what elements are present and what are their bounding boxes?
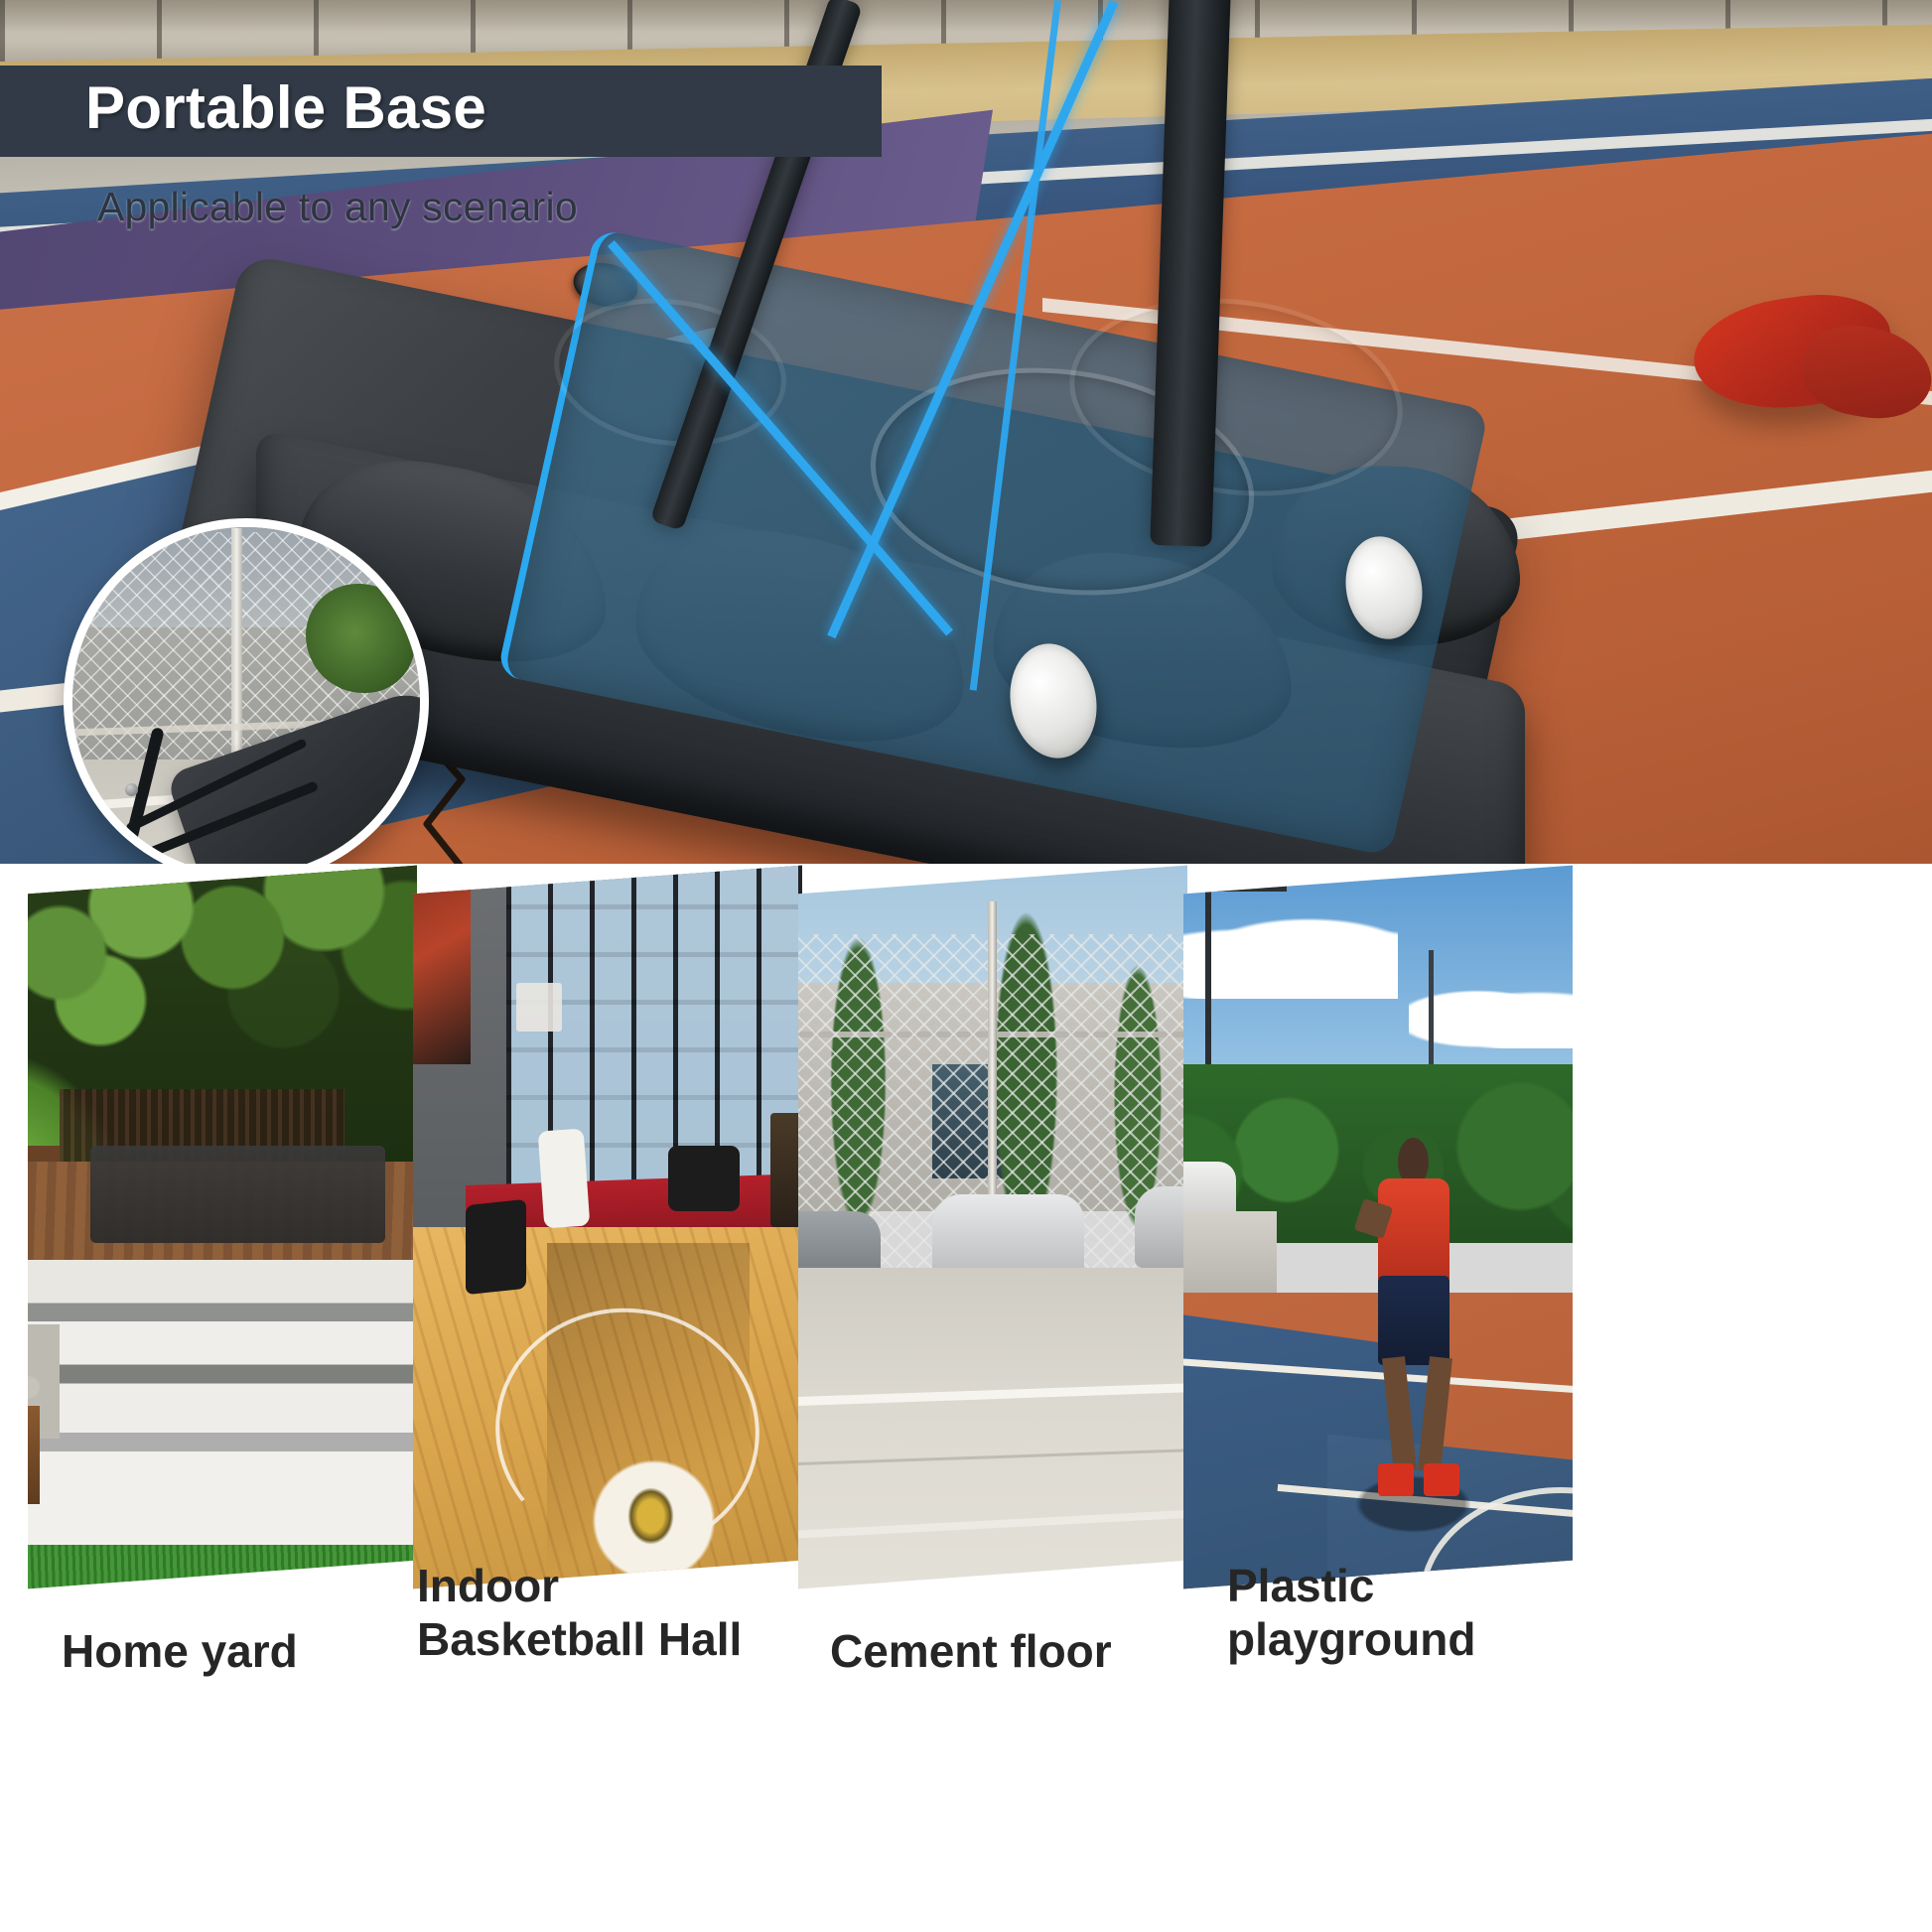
- scenario-card-home-yard[interactable]: [28, 880, 417, 1575]
- scenario-image-indoor-hall: [413, 866, 802, 1589]
- scenario-thumbnail[interactable]: [413, 866, 802, 1589]
- hero-image: Portable Base Applicable to any scenario: [0, 0, 1932, 864]
- scenario-label-indoor-hall: Indoor Basketball Hall: [417, 1559, 742, 1667]
- scenario-thumbnail[interactable]: [28, 866, 417, 1589]
- page-title: Portable Base: [85, 73, 486, 142]
- closeup-inset-photo: [64, 518, 429, 864]
- scenario-label-home-yard: Home yard: [62, 1624, 298, 1678]
- page-subtitle: Applicable to any scenario: [97, 184, 578, 230]
- scenario-card-cement-floor[interactable]: [798, 880, 1187, 1575]
- inset-fence-post: [231, 528, 242, 756]
- scenario-image-cement-floor: [798, 866, 1187, 1589]
- scenario-label-plastic-playground: Plastic playground: [1227, 1559, 1475, 1667]
- scenario-card-indoor-hall[interactable]: [413, 880, 802, 1575]
- scenario-gallery: Home yard: [0, 864, 1932, 1932]
- scenario-thumbnail[interactable]: [798, 866, 1187, 1589]
- inset-scene: [64, 518, 429, 864]
- scenario-image-home-yard: [28, 866, 417, 1589]
- product-feature-page: Portable Base Applicable to any scenario: [0, 0, 1932, 1932]
- scenario-card-plastic-playground[interactable]: [1183, 880, 1573, 1575]
- scenario-thumbnail[interactable]: [1183, 866, 1573, 1589]
- scenario-image-plastic-playground: [1183, 866, 1573, 1589]
- scenario-label-cement-floor: Cement floor: [830, 1624, 1112, 1678]
- inset-tree: [306, 584, 415, 693]
